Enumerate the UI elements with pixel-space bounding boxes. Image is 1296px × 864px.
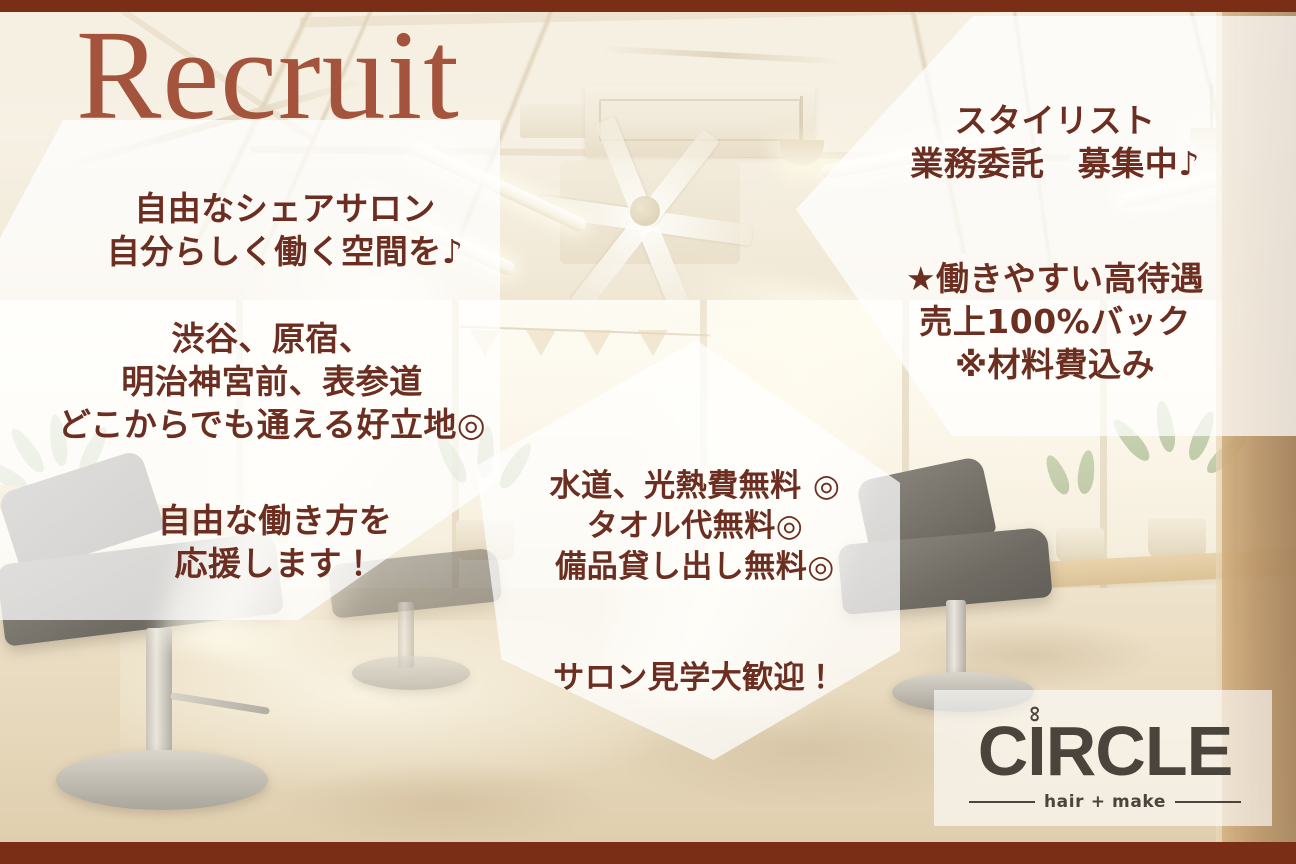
- text-block-locations: 渋谷、原宿、 明治神宮前、表参道 どこからでも通える好立地◎: [42, 318, 502, 447]
- infinity-icon: ∞: [1024, 706, 1047, 721]
- circle-logo: CIRCLE ∞ hair + make: [955, 716, 1255, 816]
- logo-tagline-row: hair + make: [955, 792, 1255, 812]
- logo-rule-left: [969, 801, 1035, 803]
- logo-wordmark: CIRCLE ∞: [955, 716, 1255, 786]
- bottom-border-bar: [0, 842, 1296, 864]
- text-block-support: 自由な働き方を 応援します！: [100, 500, 450, 586]
- text-block-stylist-wanted: スタイリスト 業務委託 募集中♪: [860, 100, 1250, 186]
- text-block-free-share-salon: 自由なシェアサロン 自分らしく働く空間を♪: [100, 188, 470, 274]
- page-title: Recruit: [76, 8, 460, 142]
- logo-rule-right: [1175, 801, 1241, 803]
- text-block-salon-tour: サロン見学大歓迎！: [510, 658, 880, 698]
- logo-tagline: hair + make: [1044, 792, 1166, 812]
- logo-wordmark-text: CIRCLE: [978, 712, 1233, 790]
- recruitment-poster: Recruit 自由なシェアサロン 自分らしく働く空間を♪ 渋谷、原宿、 明治神…: [0, 0, 1296, 864]
- text-block-free-utilities: 水道、光熱費無料 ◎ タオル代無料◎ 備品貸し出し無料◎: [510, 466, 880, 587]
- text-block-benefits: ★働きやすい高待遇 売上100%バック ※材料費込み: [860, 258, 1250, 387]
